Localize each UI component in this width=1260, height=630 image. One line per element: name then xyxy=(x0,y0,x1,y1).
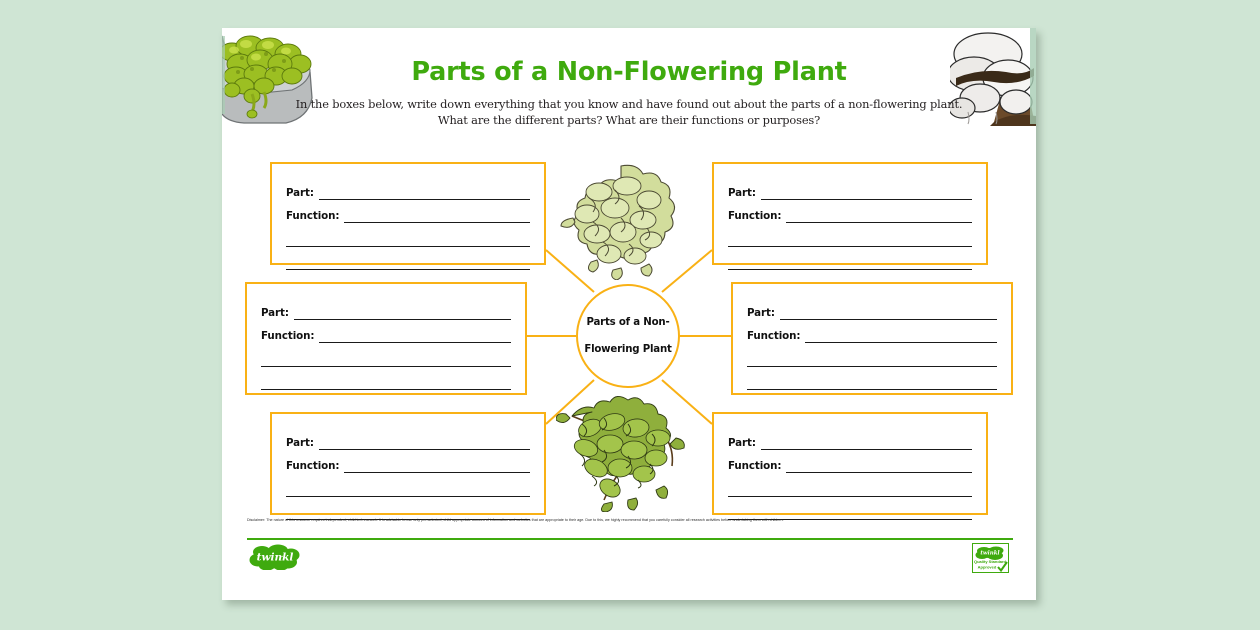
function-writing-line[interactable] xyxy=(786,222,972,223)
writing-line[interactable] xyxy=(728,496,972,497)
part-row[interactable]: Part: xyxy=(261,296,511,320)
worksheet-page: Parts of a Non-Flowering Plant In the bo… xyxy=(222,28,1036,600)
function-label: Function: xyxy=(261,330,319,343)
function-writing-line[interactable] xyxy=(805,342,997,343)
extra-row[interactable] xyxy=(728,473,972,497)
fern-frond-illustration xyxy=(556,394,686,512)
part-writing-line[interactable] xyxy=(294,319,511,320)
function-label: Function: xyxy=(728,460,786,473)
part-row[interactable]: Part: xyxy=(728,426,972,450)
lichen-illustration xyxy=(559,162,683,280)
extra-row[interactable] xyxy=(728,247,972,271)
writing-line[interactable] xyxy=(261,389,511,390)
part-label: Part: xyxy=(261,307,294,320)
function-label: Function: xyxy=(728,210,786,223)
part-label: Part: xyxy=(286,187,319,200)
function-label: Function: xyxy=(286,210,344,223)
writing-line[interactable] xyxy=(747,389,997,390)
function-row[interactable]: Function: xyxy=(728,450,972,474)
function-writing-line[interactable] xyxy=(344,222,530,223)
extra-row[interactable] xyxy=(261,343,511,367)
extra-row[interactable] xyxy=(286,473,530,497)
function-row[interactable]: Function: xyxy=(261,320,511,344)
svg-text:twinkl: twinkl xyxy=(257,552,294,564)
disclaimer-text: Disclaimer: The nature of this resource … xyxy=(247,518,1013,524)
instructions-line-1: In the boxes below, write down everythin… xyxy=(222,97,1036,111)
extra-row[interactable] xyxy=(286,497,530,521)
answer-box-bottom-right[interactable]: Part: Function: xyxy=(712,412,988,515)
extra-row[interactable] xyxy=(747,343,997,367)
writing-line[interactable] xyxy=(286,496,530,497)
function-row[interactable]: Function: xyxy=(286,450,530,474)
instructions-line-2: What are the different parts? What are t… xyxy=(222,113,1036,127)
function-writing-line[interactable] xyxy=(786,472,972,473)
part-label: Part: xyxy=(747,307,780,320)
twinkl-quality-standard-badge: twinkl Quality Standard Approved xyxy=(972,543,1009,573)
svg-text:twinkl: twinkl xyxy=(980,551,999,557)
center-topic-circle: Parts of a Non- Flowering Plant xyxy=(576,284,680,388)
writing-line[interactable] xyxy=(728,246,972,247)
answer-box-top-right[interactable]: Part: Function: xyxy=(712,162,988,265)
center-topic-line-2: Flowering Plant xyxy=(584,343,671,356)
part-row[interactable]: Part: xyxy=(286,426,530,450)
function-label: Function: xyxy=(747,330,805,343)
svg-text:Quality Standard: Quality Standard xyxy=(974,559,1007,564)
answer-box-middle-left[interactable]: Part: Function: xyxy=(245,282,527,395)
footer-divider xyxy=(247,538,1013,540)
answer-box-bottom-left[interactable]: Part: Function: xyxy=(270,412,546,515)
writing-line[interactable] xyxy=(728,269,972,270)
function-writing-line[interactable] xyxy=(344,472,530,473)
function-row[interactable]: Function: xyxy=(747,320,997,344)
worksheet-header: Parts of a Non-Flowering Plant In the bo… xyxy=(222,28,1036,132)
extra-row[interactable] xyxy=(747,367,997,391)
writing-line[interactable] xyxy=(747,366,997,367)
writing-line[interactable] xyxy=(286,246,530,247)
part-label: Part: xyxy=(728,437,761,450)
writing-line[interactable] xyxy=(286,269,530,270)
part-row[interactable]: Part: xyxy=(747,296,997,320)
twinkl-logo: twinkl xyxy=(249,544,301,570)
page-title: Parts of a Non-Flowering Plant xyxy=(222,57,1036,87)
part-row[interactable]: Part: xyxy=(286,176,530,200)
part-writing-line[interactable] xyxy=(319,199,530,200)
extra-row[interactable] xyxy=(286,223,530,247)
mind-map-area: Parts of a Non- Flowering Plant Part: Fu… xyxy=(222,132,1036,518)
screenshot-canvas: Parts of a Non-Flowering Plant In the bo… xyxy=(0,0,1260,630)
answer-box-top-left[interactable]: Part: Function: xyxy=(270,162,546,265)
worksheet-footer: Disclaimer: The nature of this resource … xyxy=(222,518,1036,600)
function-label: Function: xyxy=(286,460,344,473)
answer-box-middle-right[interactable]: Part: Function: xyxy=(731,282,1013,395)
writing-line[interactable] xyxy=(261,366,511,367)
svg-text:Approved: Approved xyxy=(978,565,997,570)
extra-row[interactable] xyxy=(728,497,972,521)
part-label: Part: xyxy=(728,187,761,200)
part-label: Part: xyxy=(286,437,319,450)
function-writing-line[interactable] xyxy=(319,342,511,343)
extra-row[interactable] xyxy=(286,247,530,271)
center-topic-line-1: Parts of a Non- xyxy=(584,316,671,329)
part-writing-line[interactable] xyxy=(761,199,972,200)
extra-row[interactable] xyxy=(728,223,972,247)
part-writing-line[interactable] xyxy=(319,449,530,450)
function-row[interactable]: Function: xyxy=(286,200,530,224)
part-writing-line[interactable] xyxy=(761,449,972,450)
part-row[interactable]: Part: xyxy=(728,176,972,200)
part-writing-line[interactable] xyxy=(780,319,997,320)
function-row[interactable]: Function: xyxy=(728,200,972,224)
extra-row[interactable] xyxy=(261,367,511,391)
